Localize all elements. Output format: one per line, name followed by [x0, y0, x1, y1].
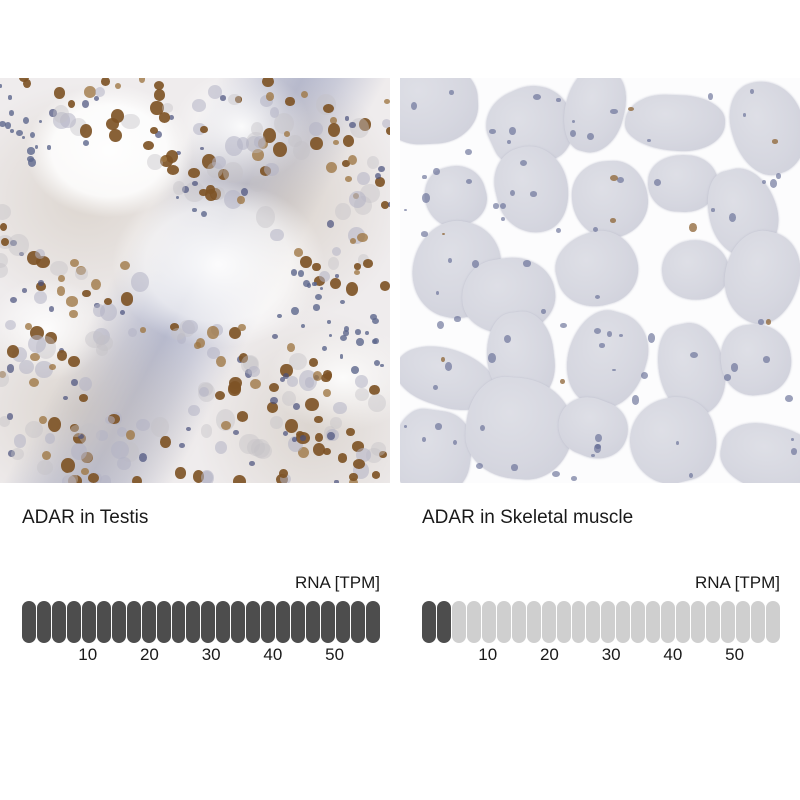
nucleus-dot [338, 453, 348, 462]
nucleus-dot [556, 98, 560, 102]
nucleus-dot [0, 84, 2, 87]
nucleus-dot [19, 360, 34, 374]
muscle-nuclei-layer [400, 78, 800, 483]
nucleus-dot [57, 350, 68, 361]
nucleus-dot [560, 323, 566, 328]
nucleus-dot [162, 103, 173, 113]
nucleus-dot [610, 218, 616, 222]
rna-bar-segment [527, 601, 541, 643]
nucleus-dot [312, 263, 321, 272]
rna-bar-segment [512, 601, 526, 643]
nucleus-dot [201, 211, 207, 217]
nucleus-dot [8, 95, 13, 100]
rna-bar-segment [127, 601, 141, 643]
nucleus-dot [176, 196, 179, 200]
rna-bar-segment [497, 601, 511, 643]
nucleus-dot [287, 343, 296, 352]
nucleus-dot [599, 343, 605, 347]
nucleus-dot [70, 425, 82, 437]
rna-bar-segment [306, 601, 320, 643]
nucleus-dot [215, 391, 225, 400]
rna-ticks-skeletal-muscle: 1020304050 [422, 644, 780, 668]
nucleus-dot [595, 434, 602, 442]
nucleus-dot [448, 258, 452, 263]
nucleus-dot [250, 176, 265, 192]
nucleus-dot [0, 204, 11, 220]
nucleus-dot [143, 141, 153, 150]
rna-gauge-skeletal-muscle: RNA [TPM] 1020304050 [422, 572, 780, 668]
nucleus-dot [23, 79, 31, 88]
nucleus-dot [386, 127, 390, 135]
rna-bar-segment [691, 601, 705, 643]
nucleus-dot [612, 369, 615, 372]
nucleus-dot [201, 424, 213, 437]
nucleus-dot [120, 310, 125, 315]
rna-tick-label: 40 [263, 644, 282, 666]
rna-bar-segment [452, 601, 466, 643]
nucleus-dot [188, 168, 199, 178]
nucleus-dot [571, 476, 577, 481]
rna-tick-label: 10 [78, 644, 97, 666]
nucleus-dot [269, 383, 279, 392]
nucleus-dot [273, 142, 287, 157]
nucleus-dot [196, 338, 205, 348]
rna-bar-segment [751, 601, 765, 643]
rna-bar-segment [766, 601, 780, 643]
nucleus-dot [689, 223, 696, 232]
nucleus-dot [329, 334, 332, 337]
nucleus-dot [147, 154, 163, 171]
nucleus-dot [279, 469, 288, 479]
nucleus-dot [22, 288, 27, 292]
caption-testis: ADAR in Testis [22, 506, 148, 530]
nucleus-dot [533, 94, 541, 100]
nucleus-dot [131, 272, 149, 292]
nucleus-dot [109, 129, 122, 142]
nucleus-dot [689, 473, 693, 478]
nucleus-dot [293, 403, 300, 410]
nucleus-dot [763, 356, 770, 363]
nucleus-dot [560, 379, 564, 384]
nucleus-dot [207, 347, 220, 359]
nucleus-dot [380, 364, 384, 368]
nucleus-dot [69, 310, 78, 318]
nucleus-dot [320, 287, 323, 290]
rna-bar-segment [572, 601, 586, 643]
nucleus-dot [28, 335, 46, 353]
nucleus-dot [93, 304, 105, 317]
nucleus-dot [228, 94, 241, 105]
nucleus-dot [274, 113, 294, 134]
nucleus-dot [75, 267, 88, 279]
nucleus-dot [363, 259, 373, 268]
rna-bar-segment [422, 601, 436, 643]
nucleus-dot [371, 442, 386, 456]
nucleus-dot [237, 411, 248, 421]
rna-bar-segment [631, 601, 645, 643]
rna-gauge-title-skeletal-muscle: RNA [TPM] [695, 572, 780, 593]
nucleus-dot [256, 206, 275, 228]
nucleus-dot [607, 331, 612, 336]
rna-bar-segment [216, 601, 230, 643]
nucleus-dot [68, 356, 80, 367]
nucleus-dot [48, 417, 61, 431]
nucleus-dot [654, 179, 661, 186]
nucleus-dot [254, 136, 265, 147]
nucleus-dot [330, 417, 343, 429]
nucleus-dot [79, 394, 88, 402]
nucleus-dot [5, 122, 12, 129]
nucleus-dot [480, 425, 485, 431]
nucleus-dot [233, 430, 239, 435]
nucleus-dot [313, 304, 320, 310]
nucleus-dot [510, 190, 515, 196]
nucleus-dot [354, 270, 360, 275]
nucleus-dot [188, 405, 200, 416]
nucleus-dot [344, 326, 350, 332]
nucleus-dot [0, 371, 9, 386]
nucleus-dot [333, 140, 339, 146]
nucleus-dot [404, 425, 407, 428]
nucleus-dot [58, 275, 65, 282]
hpa-comparison-figure: ADAR in Testis RNA [TPM] 1020304050 ADAR… [0, 0, 800, 800]
nucleus-dot [201, 471, 214, 483]
nucleus-dot [63, 396, 68, 401]
nucleus-dot [325, 372, 332, 380]
nucleus-dot [509, 127, 516, 135]
nucleus-dot [270, 416, 282, 429]
nucleus-dot [272, 334, 278, 339]
nucleus-dot [594, 444, 601, 453]
nucleus-dot [708, 93, 713, 100]
nucleus-dot [314, 416, 322, 423]
nucleus-dot [292, 437, 297, 442]
tissue-panel-skeletal-muscle[interactable] [400, 78, 800, 483]
nucleus-dot [511, 464, 518, 470]
nucleus-dot [315, 294, 322, 300]
nucleus-dot [327, 220, 334, 228]
nucleus-dot [731, 363, 738, 371]
rna-bar-testis[interactable] [22, 601, 380, 643]
nucleus-dot [619, 334, 623, 337]
nucleus-dot [313, 443, 325, 455]
nucleus-dot [132, 476, 142, 483]
nucleus-dot [328, 257, 339, 270]
nucleus-dot [83, 140, 89, 146]
nucleus-dot [205, 189, 217, 201]
rna-bar-segment [261, 601, 275, 643]
caption-skeletal-muscle: ADAR in Skeletal muscle [422, 506, 633, 530]
nucleus-dot [610, 109, 618, 115]
nucleus-dot [441, 357, 445, 362]
rna-bar-segment [586, 601, 600, 643]
nucleus-dot [355, 329, 361, 334]
nucleus-dot [29, 378, 39, 387]
tissue-panel-testis[interactable] [0, 78, 390, 483]
nucleus-dot [758, 319, 764, 325]
nucleus-dot [49, 306, 54, 311]
nucleus-dot [150, 127, 158, 134]
nucleus-dot [433, 385, 438, 390]
nucleus-dot [266, 92, 274, 101]
nucleus-dot [453, 440, 457, 445]
nucleus-dot [128, 328, 137, 337]
nucleus-dot [30, 132, 36, 138]
nucleus-dot [466, 179, 472, 184]
nucleus-dot [54, 87, 65, 98]
nucleus-dot [27, 147, 35, 154]
nucleus-dot [212, 156, 226, 169]
nucleus-dot [215, 441, 227, 454]
rna-gauge-testis: RNA [TPM] 1020304050 [22, 572, 380, 668]
nucleus-dot [280, 377, 285, 382]
nucleus-dot [14, 434, 27, 448]
nucleus-dot [690, 352, 698, 358]
nucleus-dot [350, 238, 357, 244]
nucleus-dot [42, 451, 51, 460]
nucleus-dot [49, 364, 56, 371]
nucleus-dot [349, 473, 358, 482]
nucleus-dot [729, 213, 737, 223]
nucleus-dot [301, 91, 309, 99]
nucleus-dot [285, 419, 298, 433]
nucleus-dot [378, 166, 385, 172]
nucleus-dot [248, 366, 260, 377]
nucleus-dot [220, 95, 227, 101]
nucleus-dot [504, 335, 511, 343]
nucleus-dot [355, 388, 369, 401]
nucleus-dot [264, 163, 279, 176]
rna-bar-segment [557, 601, 571, 643]
nucleus-dot [305, 398, 319, 411]
nucleus-dot [8, 234, 28, 257]
nucleus-dot [285, 97, 294, 105]
rna-bar-segment [366, 601, 380, 643]
nucleus-dot [115, 83, 121, 89]
nucleus-dot [9, 110, 14, 115]
rna-tick-label: 20 [140, 644, 159, 666]
nucleus-dot [173, 181, 185, 195]
rna-tick-label: 30 [602, 644, 621, 666]
nucleus-dot [249, 461, 255, 466]
nucleus-dot [182, 320, 197, 334]
nucleus-dot [238, 324, 246, 331]
nucleus-dot [594, 328, 601, 334]
nucleus-dot [445, 362, 453, 371]
nucleus-dot [61, 458, 75, 473]
nucleus-dot [411, 102, 417, 110]
nucleus-dot [139, 78, 146, 83]
rna-gauge-title-testis: RNA [TPM] [295, 572, 380, 593]
nucleus-dot [221, 421, 231, 430]
nucleus-dot [326, 162, 337, 173]
nucleus-dot [310, 137, 322, 150]
nucleus-dot [488, 353, 496, 363]
rna-tick-label: 30 [202, 644, 221, 666]
nucleus-dot [530, 191, 537, 196]
nucleus-dot [307, 283, 311, 288]
rna-bar-segment [246, 601, 260, 643]
nucleus-dot [628, 107, 634, 111]
nucleus-dot [28, 158, 36, 166]
nucleus-dot [282, 391, 296, 406]
nucleus-dot [5, 320, 16, 330]
nucleus-dot [349, 122, 356, 128]
rna-bar-segment [467, 601, 481, 643]
nucleus-dot [770, 179, 778, 188]
nucleus-dot [120, 261, 130, 271]
nucleus-dot [7, 413, 13, 419]
nucleus-dot [207, 326, 218, 339]
nucleus-dot [50, 261, 68, 276]
nucleus-dot [334, 480, 339, 483]
nucleus-dot [300, 256, 312, 268]
nucleus-dot [472, 260, 479, 268]
rna-bar-segment [37, 601, 51, 643]
nucleus-dot [0, 253, 8, 268]
rna-bar-segment [231, 601, 245, 643]
nucleus-dot [368, 394, 386, 412]
rna-bar-segment [736, 601, 750, 643]
nucleus-dot [262, 78, 274, 87]
rna-bar-segment [321, 601, 335, 643]
nucleus-dot [648, 333, 655, 342]
nucleus-dot [454, 316, 461, 321]
nucleus-dot [237, 196, 244, 204]
rna-bar-segment [646, 601, 660, 643]
nucleus-dot [315, 433, 323, 442]
nucleus-dot [314, 282, 317, 285]
nucleus-dot [104, 298, 112, 305]
nucleus-dot [340, 354, 344, 358]
nucleus-dot [241, 188, 248, 196]
rna-tick-label: 20 [540, 644, 559, 666]
nucleus-dot [287, 376, 298, 387]
nucleus-dot [372, 318, 379, 324]
nucleus-dot [572, 120, 575, 123]
rna-tick-label: 40 [663, 644, 682, 666]
nucleus-dot [68, 100, 75, 108]
nucleus-dot [357, 233, 368, 243]
nucleus-dot [372, 471, 381, 479]
nucleus-dot [327, 320, 331, 324]
nucleus-dot [507, 140, 511, 144]
rna-bar-skeletal-muscle[interactable] [422, 601, 780, 643]
nucleus-dot [57, 286, 66, 295]
rna-bar-segment [676, 601, 690, 643]
nucleus-dot [556, 228, 561, 233]
nucleus-dot [319, 271, 330, 282]
nucleus-dot [91, 279, 101, 290]
nucleus-dot [16, 130, 23, 137]
nucleus-dot [327, 432, 335, 440]
nucleus-dot [351, 366, 359, 374]
nucleus-dot [422, 437, 427, 442]
rna-bar-segment [616, 601, 630, 643]
nucleus-dot [64, 472, 78, 483]
nucleus-dot [380, 281, 390, 290]
nucleus-dot [154, 89, 166, 101]
nucleus-dot [121, 292, 134, 305]
nucleus-dot [34, 291, 47, 304]
nucleus-dot [7, 364, 14, 372]
nucleus-dot [724, 374, 731, 380]
nucleus-dot [421, 231, 429, 237]
nucleus-dot [95, 87, 105, 97]
nucleus-dot [121, 114, 140, 130]
nucleus-dot [151, 417, 168, 437]
rna-bar-segment [97, 601, 111, 643]
rna-bar-segment [351, 601, 365, 643]
rna-bar-segment [661, 601, 675, 643]
nucleus-dot [641, 372, 648, 379]
nucleus-dot [595, 295, 600, 299]
nucleus-dot [309, 358, 318, 367]
nucleus-dot [520, 160, 527, 166]
nucleus-dot [785, 395, 793, 402]
nucleus-dot [343, 135, 354, 147]
nucleus-dot [750, 89, 754, 94]
nucleus-dot [772, 139, 778, 143]
nucleus-dot [200, 147, 204, 151]
rna-bar-segment [82, 601, 96, 643]
nucleus-dot [541, 309, 545, 314]
nucleus-dot [348, 155, 357, 165]
nucleus-dot [179, 443, 185, 448]
nucleus-dot [80, 124, 92, 138]
nucleus-dot [711, 208, 715, 211]
nucleus-dot [45, 433, 56, 444]
rna-tick-label: 50 [325, 644, 344, 666]
nucleus-dot [328, 123, 340, 137]
nucleus-dot [192, 99, 206, 112]
nucleus-dot [37, 460, 53, 474]
nucleus-dot [47, 145, 52, 150]
nucleus-dot [0, 223, 7, 231]
nucleus-dot [160, 436, 170, 448]
nucleus-dot [776, 173, 781, 179]
nucleus-dot [346, 428, 355, 436]
nucleus-dot [277, 314, 282, 319]
nucleus-dot [335, 203, 351, 221]
rna-ticks-testis: 1020304050 [22, 644, 380, 668]
nucleus-dot [365, 331, 369, 335]
nucleus-dot [300, 435, 306, 440]
rna-bar-segment [542, 601, 556, 643]
nucleus-dot [552, 471, 560, 477]
rna-bar-segment [142, 601, 156, 643]
nucleus-dot [35, 145, 38, 149]
nucleus-dot [291, 307, 299, 315]
nucleus-dot [433, 168, 439, 175]
nucleus-dot [322, 346, 327, 351]
rna-tick-label: 10 [478, 644, 497, 666]
rna-bar-segment [186, 601, 200, 643]
nucleus-dot [442, 233, 445, 236]
nucleus-dot [333, 402, 346, 414]
nucleus-dot [422, 193, 430, 202]
nucleus-dot [676, 441, 679, 445]
nucleus-dot [233, 475, 247, 483]
nucleus-dot [101, 78, 110, 86]
nucleus-dot [79, 377, 92, 391]
nucleus-dot [251, 439, 270, 458]
nucleus-dot [593, 227, 598, 232]
nucleus-dot [237, 137, 249, 150]
nucleus-dot [298, 270, 304, 277]
rna-bar-segment [52, 601, 66, 643]
nucleus-dot [372, 339, 377, 343]
